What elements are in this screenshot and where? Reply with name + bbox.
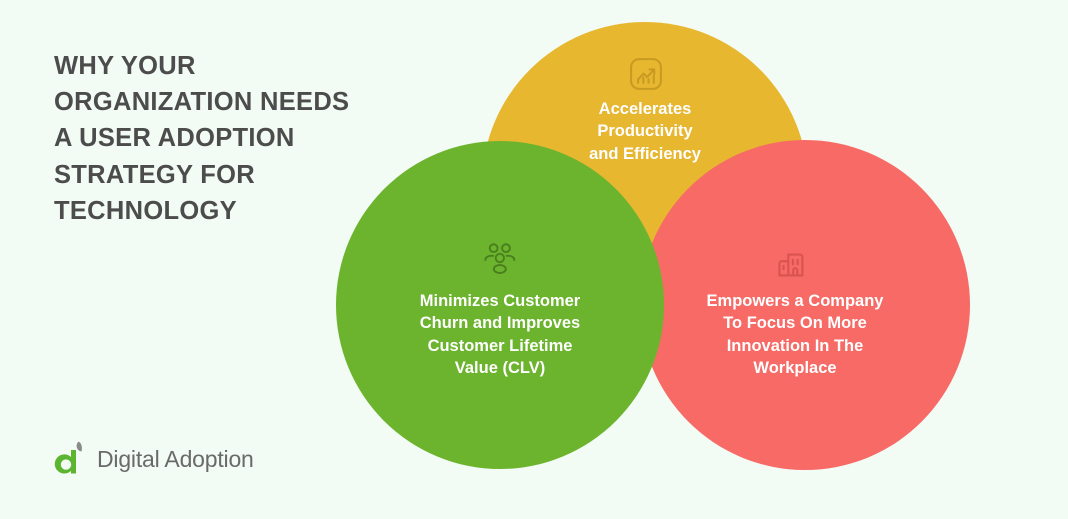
digital-adoption-logo-mark <box>54 440 90 478</box>
venn-label-green: Minimizes Customer Churn and Improves Cu… <box>390 290 610 379</box>
venn-label-yellow: Accelerates Productivity and Efficiency <box>545 98 745 165</box>
brand-logo[interactable]: Digital Adoption <box>54 440 254 478</box>
office-buildings-icon <box>772 246 810 284</box>
people-group-icon <box>480 238 520 278</box>
venn-label-red: Empowers a Company To Focus On More Inno… <box>690 290 900 379</box>
infographic-canvas: WHY YOUR ORGANIZATION NEEDS A USER ADOPT… <box>0 0 1068 519</box>
logo-text: Digital Adoption <box>97 446 254 473</box>
growth-chart-icon <box>627 55 665 93</box>
